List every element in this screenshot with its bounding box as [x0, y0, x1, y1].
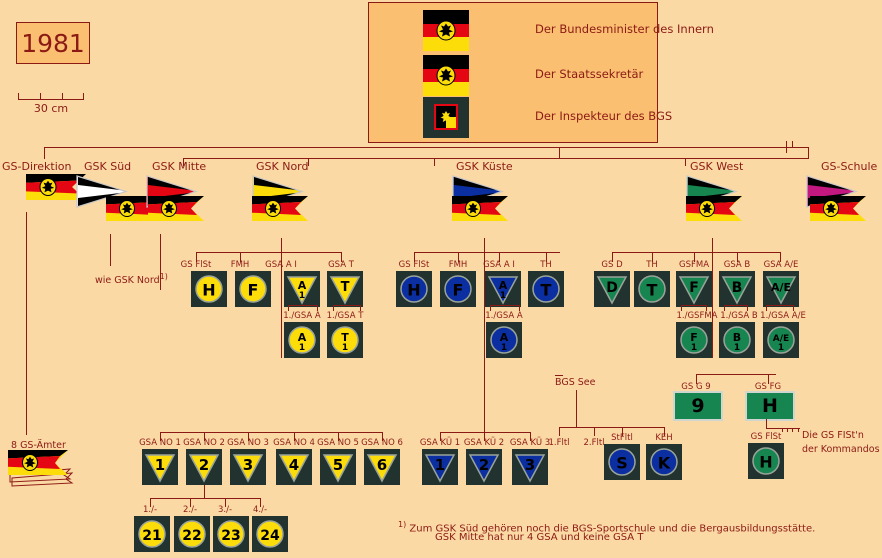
- unit-tile-gsg9[interactable]: 9: [673, 391, 723, 421]
- unit-label-1-gsfma-west: 1./GSFMA: [677, 311, 718, 321]
- unit-label-1-gsa-a-nord: 1./GSA A: [283, 311, 320, 321]
- bgs-see-bus-line: [559, 427, 664, 428]
- unit-label-gsa-no-6: GSA NO 6: [361, 438, 403, 448]
- unit-label-gsa-b-west: GSA B: [724, 260, 751, 270]
- svg-text:23: 23: [221, 528, 240, 544]
- connector: [594, 427, 595, 436]
- unit-label-gsa-ae-west: GSA A/E: [764, 260, 799, 270]
- command-label-gsk-nord: GSK Nord: [256, 160, 309, 173]
- svg-text:1: 1: [500, 291, 506, 301]
- svg-text:H: H: [202, 281, 215, 300]
- svg-text:6: 6: [377, 456, 387, 474]
- scale-tick: [83, 93, 84, 100]
- svg-text:21: 21: [142, 528, 161, 544]
- note-wie-gsk-nord: wie GSK Nord1): [95, 272, 168, 286]
- unit-label-stfltl: StFltl: [611, 433, 633, 443]
- unit-tile-gsa-a1-nord[interactable]: A1: [284, 271, 320, 307]
- unit-tile-gs-flst-kommandos[interactable]: H: [748, 443, 784, 479]
- unit-label-fmh-kueste: FMH: [449, 260, 468, 270]
- unit-tile-fmh-kueste[interactable]: F: [440, 271, 476, 307]
- unit-tile-gsa-no-3[interactable]: 3: [230, 449, 266, 485]
- svg-text:K: K: [658, 454, 671, 473]
- ministry-label: Der Inspekteur des BGS: [535, 109, 672, 123]
- connector: [555, 375, 563, 376]
- unit-tile-th-kueste[interactable]: T: [528, 271, 564, 307]
- unit-tile-stfltl[interactable]: S: [604, 444, 640, 480]
- unit-tile-gsa-ku-1[interactable]: 1: [422, 449, 458, 485]
- nord-bus-line: [196, 252, 342, 253]
- unit-label-gsa-a1-nord: GSA A I: [265, 260, 297, 270]
- german-service-flag-icon: [423, 55, 469, 96]
- german-service-flag-icon-gsk-mitte: [148, 196, 204, 238]
- unit-tile-gsa-a1-kueste[interactable]: A1: [485, 271, 521, 307]
- unit-tile-gsa-ae-west[interactable]: A/E: [763, 271, 799, 307]
- unit-label-keh: KEH: [655, 433, 672, 443]
- note-gs-flst-kommandos-1: Die GS FISt'n: [802, 430, 864, 441]
- german-service-flag-icon-gsk-nord: [252, 196, 308, 238]
- svg-text:1: 1: [691, 343, 697, 353]
- unit-label-company-22: 2./-: [183, 505, 197, 515]
- svg-text:T: T: [341, 280, 350, 295]
- connector: [685, 158, 686, 166]
- unit-tile-gsa-no-6[interactable]: 6: [364, 449, 400, 485]
- unit-tile-gsa-ku-3[interactable]: 3: [512, 449, 548, 485]
- measure-ticks: [782, 428, 802, 432]
- unit-tile-1-gsa-b-west[interactable]: B1: [719, 322, 755, 358]
- command-label-gsk-kueste: GSK Küste: [456, 160, 513, 173]
- unit-tile-gs-d-west[interactable]: D: [594, 271, 630, 307]
- scale-tick: [40, 93, 41, 100]
- unit-label-gsa-ku-3: GSA KÜ 3: [510, 438, 550, 448]
- svg-text:T: T: [647, 281, 658, 300]
- unit-label-th-west: TH: [646, 260, 658, 270]
- svg-text:1: 1: [155, 456, 165, 474]
- unit-tile-fmh-nord[interactable]: F: [235, 271, 271, 307]
- unit-tile-company-22[interactable]: 22: [174, 516, 210, 552]
- command-label-gsk-sued: GSK Süd: [84, 160, 131, 173]
- unit-tile-gsa-no-2[interactable]: 2: [186, 449, 222, 485]
- german-service-flag-icon-gs-schule: [810, 196, 866, 238]
- note-gs-flst-kommandos-2: der Kommandos: [802, 444, 880, 455]
- unit-tile-th-west[interactable]: T: [634, 271, 670, 307]
- scale-tick: [18, 93, 19, 100]
- ministry-row: Der Inspekteur des BGS: [423, 97, 469, 138]
- unit-label-gs-d-west: GS D: [601, 260, 622, 270]
- unit-label-th-kueste: TH: [540, 260, 552, 270]
- unit-tile-1-gsa-a-kueste[interactable]: A1: [486, 322, 522, 358]
- unit-tile-company-24[interactable]: 24: [252, 516, 288, 552]
- svg-text:1: 1: [778, 343, 784, 353]
- connector-nord-spine: [281, 238, 282, 358]
- unit-label-gsa-no-5: GSA NO 5: [317, 438, 359, 448]
- svg-text:24: 24: [260, 528, 280, 544]
- unit-label-gsa-ku-1: GSA KÜ 1: [420, 438, 460, 448]
- footnote-line-2: GSK Mitte hat nur 4 GSA und keine GSA T: [435, 532, 643, 543]
- connector: [110, 234, 111, 266]
- kueste-bus-line: [414, 252, 560, 253]
- unit-tile-1-gsa-a-nord[interactable]: A1: [284, 322, 320, 358]
- svg-text:1: 1: [299, 291, 305, 301]
- german-service-flag-icon-gsk-west: [686, 196, 742, 238]
- unit-tile-gsa-ku-2[interactable]: 2: [466, 449, 502, 485]
- command-label-gsk-mitte: GSK Mitte: [152, 160, 206, 173]
- svg-text:F: F: [248, 281, 259, 300]
- unit-label-company-21: 1./-: [143, 505, 157, 515]
- unit-tile-keh[interactable]: K: [646, 444, 682, 480]
- ministry-box: Der Bundesminister des Innern Der Staats…: [368, 2, 658, 143]
- svg-text:5: 5: [333, 456, 343, 474]
- unit-tile-1-gsa-ae-west[interactable]: A/E1: [763, 322, 799, 358]
- gsa-ku-bus-line: [440, 432, 530, 433]
- svg-text:H: H: [407, 281, 420, 300]
- connector: [766, 419, 767, 428]
- unit-tile-gs-flst-kueste[interactable]: H: [396, 271, 432, 307]
- unit-label-1-gsa-ae-west: 1./GSA A/E: [760, 311, 806, 321]
- ministry-label: Der Staatssekretär: [535, 67, 643, 81]
- unit-tile-gs-flst-nord[interactable]: H: [191, 271, 227, 307]
- unit-symbol-gsg9: 9: [675, 393, 721, 419]
- svg-text:B: B: [732, 280, 743, 296]
- connector: [808, 147, 809, 159]
- unit-label-gsa-no-4: GSA NO 4: [273, 438, 315, 448]
- german-service-flag-icon: [423, 10, 469, 51]
- unit-tile-1-gsfma-west[interactable]: F1: [676, 322, 712, 358]
- year-box: 1981: [16, 22, 90, 64]
- companies-bus-line: [150, 498, 260, 499]
- year-label: 1981: [21, 29, 85, 58]
- unit-label-gsa-no-3: GSA NO 3: [227, 438, 269, 448]
- gsa-no-bus-line: [160, 432, 382, 433]
- svg-text:4: 4: [289, 456, 299, 474]
- unit-tile-gsa-no-4[interactable]: 4: [276, 449, 312, 485]
- unit-tile-company-21[interactable]: 21: [134, 516, 170, 552]
- top-bus-line: [44, 147, 809, 148]
- label-bgs-see: BGS See: [555, 377, 595, 388]
- unit-label-1-gsa-a-kueste: 1./GSA A: [485, 311, 522, 321]
- ministry-row: Der Staatssekretär: [423, 55, 469, 96]
- unit-label-gs-flst-kueste: GS FlSt: [399, 260, 430, 270]
- svg-text:D: D: [606, 280, 618, 296]
- svg-text:3: 3: [243, 456, 253, 474]
- west-bus-line: [612, 252, 780, 253]
- command-label-gsk-west: GSK West: [690, 160, 743, 173]
- scale-bar: 30 cm: [18, 90, 84, 118]
- svg-text:1: 1: [734, 343, 740, 353]
- ministry-label: Der Bundesminister des Innern: [535, 22, 714, 36]
- svg-text:1: 1: [501, 343, 507, 353]
- svg-text:22: 22: [182, 528, 201, 544]
- svg-text:S: S: [616, 454, 628, 473]
- ministry-row: Der Bundesminister des Innern: [423, 10, 469, 51]
- unit-tile-1-gsa-t-nord[interactable]: T1: [327, 322, 363, 358]
- connector-gs-direktion-spine: [26, 212, 27, 435]
- unit-label-gs-flst-kommandos: GS FlSt: [751, 432, 782, 442]
- unit-label-gsa-t-nord: GSA T: [328, 260, 354, 270]
- unit-label-gsa-a1-kueste: GSA A I: [483, 260, 515, 270]
- svg-text:A/E: A/E: [771, 281, 791, 294]
- scale-label: 30 cm: [18, 102, 84, 115]
- second-bus-line: [183, 158, 809, 159]
- svg-text:1: 1: [299, 343, 305, 353]
- unit-label-2-fltl: 2.Fltl: [583, 438, 604, 448]
- svg-text:T: T: [541, 281, 552, 300]
- unit-symbol-gsfg: H: [747, 393, 793, 419]
- bgs-inspector-badge-icon: [423, 97, 469, 138]
- unit-label-gsa-no-1: GSA NO 1: [139, 438, 181, 448]
- unit-label-1-gsa-b-west: 1./GSA B: [720, 311, 757, 321]
- connector-bgs-see-spine: [576, 390, 577, 427]
- unit-tile-gsfma-west[interactable]: F: [676, 271, 712, 307]
- unit-label-gsfma-west: GSFMA: [679, 260, 709, 270]
- unit-tile-gsa-no-1[interactable]: 1: [142, 449, 178, 485]
- unit-tile-company-23[interactable]: 23: [213, 516, 249, 552]
- unit-label-company-24: 4./-: [253, 505, 267, 515]
- footnote-ref: 1): [160, 272, 168, 281]
- unit-label-gs-flst-nord: GS FlSt: [181, 260, 212, 270]
- unit-tile-gsfg[interactable]: H: [745, 391, 795, 421]
- west-specials-bus: [696, 374, 776, 375]
- unit-label-company-23: 3./-: [218, 505, 232, 515]
- svg-text:2: 2: [199, 456, 209, 474]
- command-label-gs-direktion: GS-Direktion: [2, 160, 72, 173]
- unit-tile-gsa-b-west[interactable]: B: [719, 271, 755, 307]
- svg-text:3: 3: [525, 456, 535, 474]
- scale-tick: [62, 93, 63, 100]
- footnote-marker: 1): [398, 520, 406, 529]
- svg-text:H: H: [759, 453, 772, 472]
- unit-label-gsa-ku-2: GSA KÜ 2: [464, 438, 504, 448]
- connector: [204, 485, 205, 498]
- svg-text:2: 2: [479, 456, 489, 474]
- gs-aemter-stacked-flag-icon: [8, 450, 80, 494]
- unit-label-gsa-no-2: GSA NO 2: [183, 438, 225, 448]
- unit-label-1-fltl: 1.Fltl: [548, 438, 569, 448]
- command-label-gs-schule: GS-Schule: [821, 160, 877, 173]
- connector: [559, 427, 560, 436]
- connector: [559, 147, 560, 158]
- unit-label-fmh-nord: FMH: [231, 260, 250, 270]
- connector-west-spine: [712, 238, 713, 358]
- connector: [434, 158, 435, 166]
- svg-text:1: 1: [435, 456, 445, 474]
- unit-tile-gsa-no-5[interactable]: 5: [320, 449, 356, 485]
- svg-text:F: F: [689, 280, 699, 296]
- scale-line: [18, 99, 84, 100]
- svg-text:1: 1: [342, 343, 348, 353]
- unit-tile-gsa-t-nord[interactable]: T: [327, 271, 363, 307]
- svg-text:F: F: [453, 281, 464, 300]
- connector: [44, 147, 45, 159]
- unit-label-1-gsa-t-nord: 1./GSA T: [327, 311, 364, 321]
- german-service-flag-icon-gsk-kueste: [452, 196, 508, 238]
